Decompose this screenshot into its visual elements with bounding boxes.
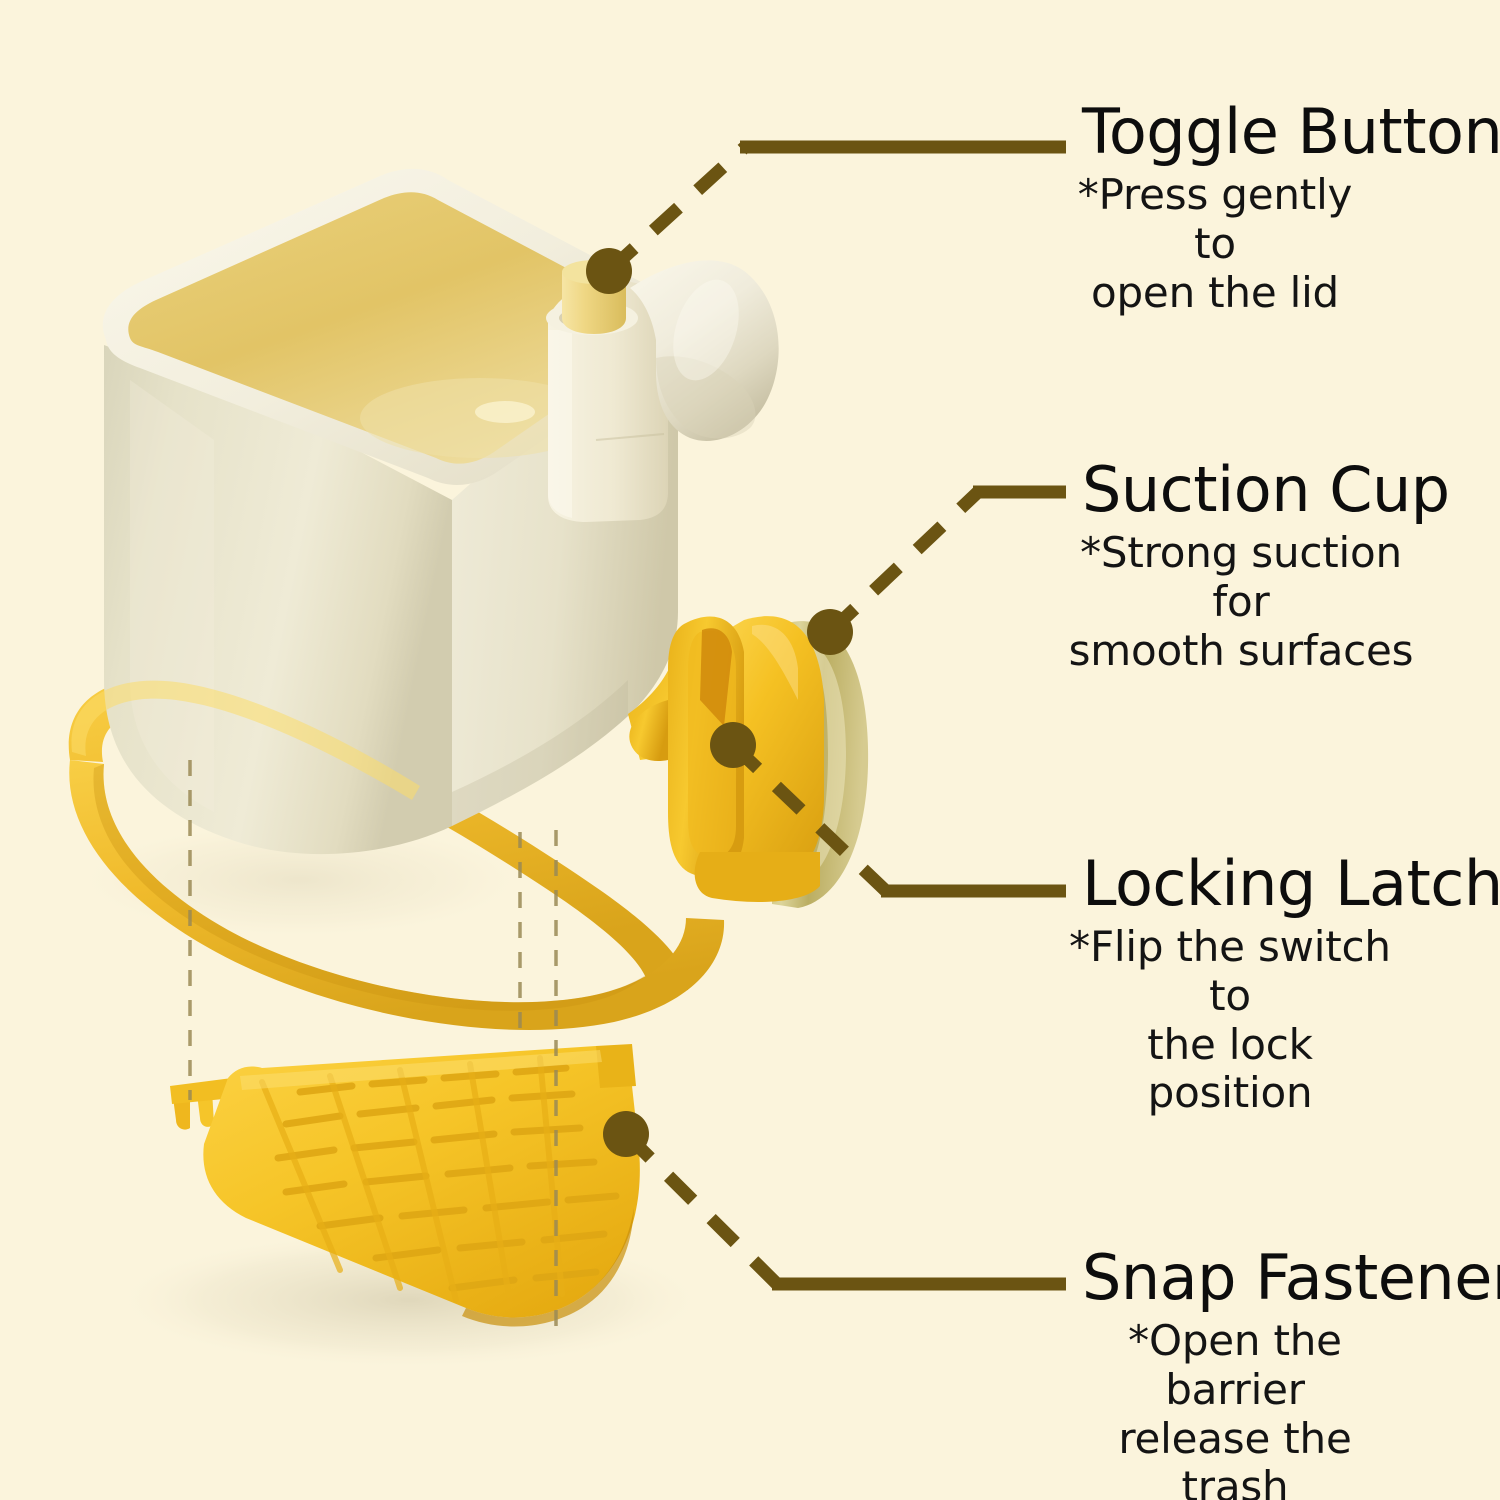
- diagram-canvas: Toggle Button *Press gently to open the …: [0, 0, 1500, 1500]
- annotation-title-snap-fastener: Snap Fastener: [1082, 1246, 1482, 1309]
- annotation-toggle-button: Toggle Button *Press gently to open the …: [1082, 100, 1482, 317]
- annotation-subtitle-toggle-button: *Press gently to open the lid: [1065, 171, 1365, 317]
- annotation-subtitle-snap-fastener: *Open the barrier release the trash: [1065, 1317, 1405, 1500]
- annotation-snap-fastener: Snap Fastener *Open the barrier release …: [1082, 1246, 1482, 1500]
- annotation-title-suction-cup: Suction Cup: [1082, 458, 1482, 521]
- annotation-locking-latch: Locking Latch *Flip the switch to the lo…: [1082, 852, 1482, 1118]
- annotation-title-toggle-button: Toggle Button: [1082, 100, 1482, 163]
- annotation-subtitle-suction-cup: *Strong suction for smooth surfaces: [1065, 529, 1417, 675]
- product-photo: [0, 0, 1000, 1420]
- annotation-title-locking-latch: Locking Latch: [1082, 852, 1482, 915]
- annotation-suction-cup: Suction Cup *Strong suction for smooth s…: [1082, 458, 1482, 675]
- annotation-subtitle-locking-latch: *Flip the switch to the lock position: [1065, 923, 1395, 1118]
